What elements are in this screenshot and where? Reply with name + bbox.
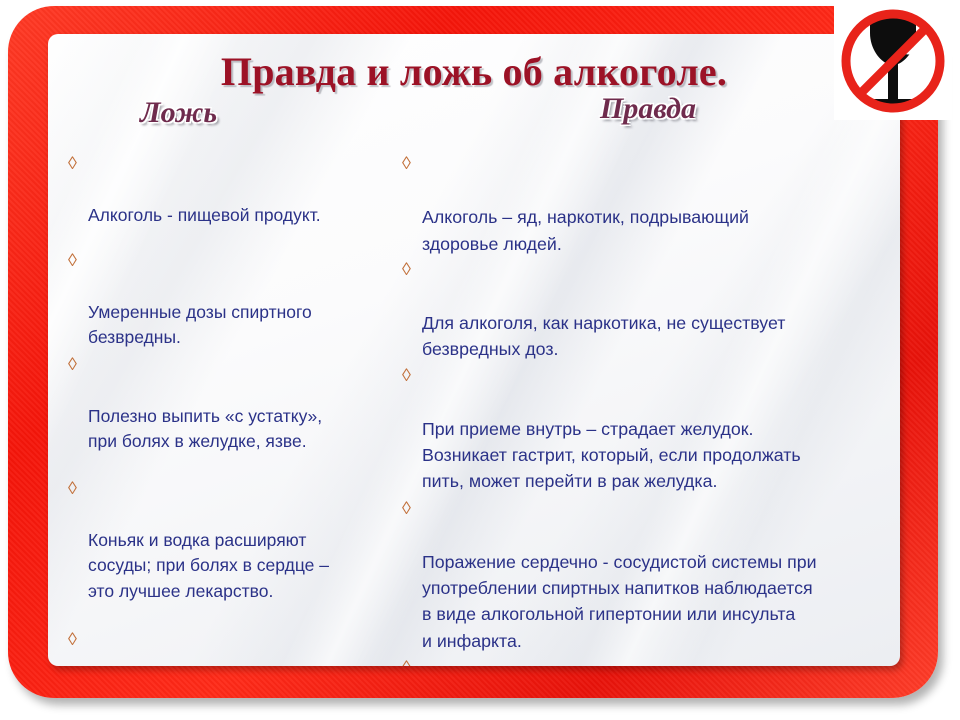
column-truth: ◊ Алкоголь – яд, наркотик, подрывающий з… (400, 152, 898, 666)
list-item: ◊ Коньяк и водка расширяют сосуды; при б… (66, 477, 411, 605)
list-item: ◊ При приеме внутрь – страдает желудок. … (400, 364, 898, 495)
diamond-bullet-icon: ◊ (402, 496, 411, 521)
diamond-bullet-icon: ◊ (402, 151, 411, 176)
diamond-bullet-icon: ◊ (68, 248, 77, 273)
list-item-text: Полезно выпить «с устатку», при болях в … (88, 406, 322, 452)
diamond-bullet-icon: ◊ (68, 476, 77, 501)
list-item-text: Алкоголь – яд, наркотик, подрывающий здо… (422, 207, 749, 253)
list-item: ◊ Алкоголь – яд, наркотик, подрывающий з… (400, 152, 898, 257)
diamond-bullet-icon: ◊ (68, 627, 77, 652)
diamond-bullet-icon: ◊ (68, 352, 77, 377)
column-heading-truth: Правда (600, 92, 696, 126)
list-item: ◊ Если пить « культурно», уме- ренно, то… (66, 628, 411, 666)
list-item-text: При приеме внутрь – страдает желудок. Во… (422, 419, 801, 491)
list-item: ◊ Полезно выпить «с устатку», при болях … (66, 353, 411, 455)
list-item-text: Поражение сердечно - сосудистой системы … (422, 552, 817, 651)
list-item: ◊ Алкоголь - пищевой продукт. (66, 152, 411, 229)
diamond-bullet-icon: ◊ (68, 151, 77, 176)
page-title: Правда и ложь об алкоголе. (48, 48, 900, 95)
list-item: ◊ Для алкоголя, как наркотика, не сущест… (400, 258, 898, 363)
diamond-bullet-icon: ◊ (402, 655, 411, 666)
no-alcohol-sign-icon (834, 2, 952, 120)
list-item-text: Коньяк и водка расширяют сосуды; при бол… (88, 530, 329, 601)
list-item: ◊ Умеренные дозы спиртного безвредны. (66, 249, 411, 351)
column-lie: ◊ Алкоголь - пищевой продукт. ◊ Умеренны… (66, 152, 411, 666)
slide-canvas: Правда и ложь об алкоголе. Ложь Правда ◊… (0, 0, 960, 720)
list-item: ◊ Поражение сердечно - сосудистой систем… (400, 497, 898, 654)
diamond-bullet-icon: ◊ (402, 257, 411, 282)
column-heading-lie: Ложь (140, 96, 217, 130)
list-item-text: Умеренные дозы спиртного безвредны. (88, 302, 312, 348)
list-item-text: Для алкоголя, как наркотика, не существу… (422, 313, 785, 359)
content-panel: Правда и ложь об алкоголе. Ложь Правда ◊… (48, 34, 900, 666)
list-item: ◊ Алкоголь действует парализующе на клет… (400, 656, 898, 666)
list-item-text: Алкоголь - пищевой продукт. (88, 205, 321, 225)
diamond-bullet-icon: ◊ (402, 363, 411, 388)
